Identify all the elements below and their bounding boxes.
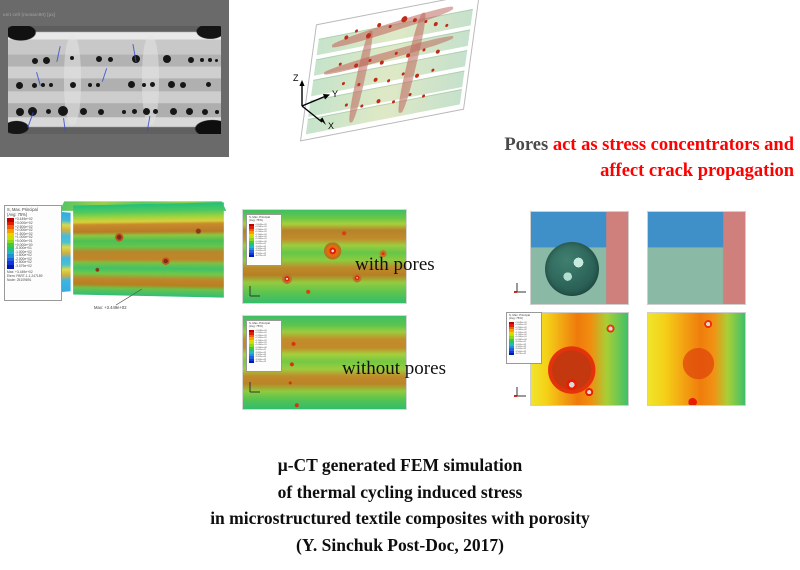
axis-label-x: X: [328, 121, 334, 131]
caption-line-2: of thermal cycling induced stress: [0, 479, 800, 506]
stress-legend-with-pores: S, Max. Principal (Avg: 75%) +3.449e+02 …: [246, 214, 282, 266]
caption-line-4: (Y. Sinchuk Post-Doc, 2017): [0, 532, 800, 559]
fem-3d-stress-block: S, Max. Principal (Avg: 75%) +3.449e+02 …: [2, 197, 238, 323]
unit-cell-material-without-pore: [648, 212, 745, 304]
statement-line-1: act as stress concentrators and: [553, 135, 794, 155]
unit-cell-material-with-pore: [531, 212, 628, 304]
slide-caption: μ-CT generated FEM simulation of thermal…: [0, 452, 800, 558]
key-message-text: Pores act as stress concentrators and af…: [432, 132, 794, 185]
coordinate-axes-triad: Z Y X: [292, 72, 350, 132]
spherical-pore: [545, 242, 599, 296]
legend-footer-node: Node: 25109891: [7, 278, 59, 282]
stress-legend-without-pores: S, Max. Principal (Avg: 75%) +3.449e+02 …: [246, 320, 282, 372]
legend-value: -3.079e+02: [15, 265, 32, 268]
without-pores-label: without pores: [342, 358, 446, 380]
contour-axes-triad: [247, 377, 265, 395]
legend-scale-rows: +3.449e+02 +3.000e+02 +2.500e+02 +2.000e…: [7, 218, 59, 268]
pore-voxel-3d-model: Z Y X: [286, 6, 486, 142]
statement-line-2: affect crack propagation: [600, 161, 794, 181]
legend-value: -3.079e+02: [515, 353, 526, 355]
legend-title-line2: (Avg: 75%): [249, 325, 279, 328]
contour-axes-triad: [247, 281, 265, 299]
unit-cell-axes-triad-bottom: [513, 382, 531, 400]
axis-label-y: Y: [332, 89, 338, 99]
unit-cell-stress-with-pore: [531, 313, 628, 405]
micro-ct-image: [8, 26, 221, 134]
stress-legend-block: S, Max. Principal (Avg: 75%) +3.449e+02 …: [4, 205, 62, 301]
micro-ct-panel: unit cell (mosaic90) [px]: [0, 0, 229, 157]
with-pores-label: with pores: [355, 254, 435, 276]
legend-value: -3.079e+02: [255, 361, 266, 363]
micro-ct-scale-label: unit cell (mosaic90) [px]: [3, 12, 55, 17]
unit-cell-stress-without-pore: [648, 313, 745, 405]
axis-label-z: Z: [293, 73, 299, 83]
legend-value: -3.079e+02: [255, 255, 266, 257]
block-front-face: [73, 202, 224, 297]
block-max-annotation: Max: +3.449e+02: [94, 305, 127, 310]
caption-line-1: μ-CT generated FEM simulation: [0, 452, 800, 479]
stress-legend-unit-cell: S, Max. Principal (Avg: 75%) +3.449e+02 …: [506, 312, 542, 364]
unit-cell-axes-triad-top: [513, 278, 531, 296]
legend-title-line2: (Avg: 75%): [509, 317, 539, 320]
caption-line-3: in microstructured textile composites wi…: [0, 505, 800, 532]
statement-lead-word: Pores: [504, 135, 548, 155]
legend-title-line2: (Avg: 75%): [249, 219, 279, 222]
